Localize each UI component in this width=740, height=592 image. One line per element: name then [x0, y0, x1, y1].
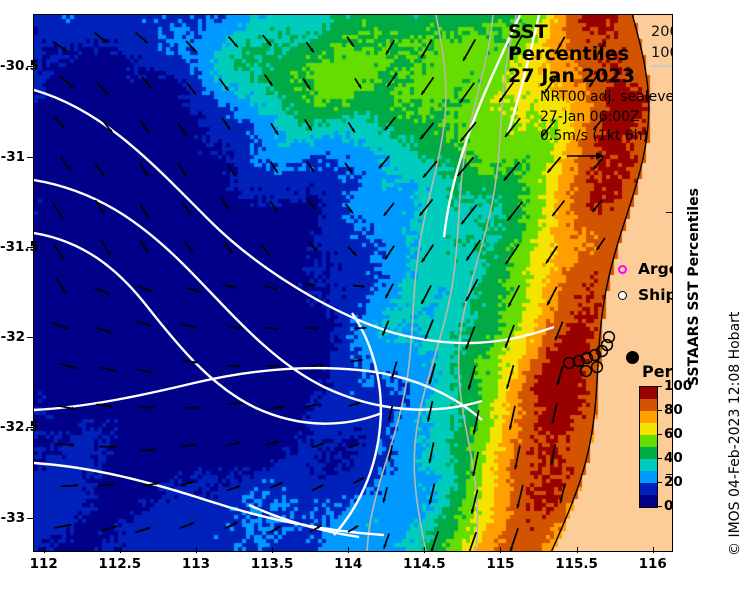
current-vector-arrow: [94, 33, 107, 43]
current-vector-arrow: [137, 322, 152, 327]
current-vector-arrow: [228, 326, 242, 329]
current-vector-arrow: [60, 364, 77, 369]
sst-map-plot: SST Percentiles 27 Jan 2023 200m 1000m N…: [33, 14, 673, 552]
current-vector-arrow: [505, 325, 514, 348]
current-vector-arrow: [181, 324, 196, 328]
colorbar-tick-label: 80: [664, 402, 683, 418]
current-vector-arrow: [225, 522, 238, 528]
x-tick-mark: [44, 547, 45, 553]
colorbar-tick-mark: [657, 458, 662, 459]
current-vector-arrow: [312, 443, 324, 448]
current-vector-arrow: [421, 77, 433, 94]
current-vector-arrow: [386, 40, 394, 54]
current-vector-arrow: [61, 484, 78, 487]
current-vector-arrow: [185, 406, 200, 409]
x-tick-label: 113: [182, 556, 210, 572]
current-vector-arrow: [421, 40, 431, 58]
depth-legend-line: [652, 65, 673, 67]
argo-marker-icon: [618, 265, 627, 274]
depth-contour-legend: 200m 1000m: [651, 22, 673, 67]
current-vector-arrow: [593, 200, 603, 212]
current-vector-arrow: [348, 247, 356, 256]
y-tick-label: -33: [0, 510, 25, 526]
legend-label-argo: Argo: [638, 260, 673, 278]
current-vector-arrow: [229, 402, 243, 406]
current-vector-arrow: [95, 327, 111, 333]
current-vector-arrow: [509, 406, 515, 430]
colorbar-band: [640, 495, 657, 507]
current-vector-arrow: [227, 486, 241, 491]
legend-item-ship: Ship: [618, 286, 673, 304]
current-vector-arrow: [422, 285, 432, 304]
colorbar-band: [640, 459, 657, 471]
current-vector-arrow: [101, 526, 117, 531]
contour-path: [34, 90, 554, 343]
current-vector-arrow: [552, 201, 564, 217]
y-tick-mark: [27, 66, 33, 67]
x-tick-label: 112: [30, 556, 58, 572]
colorbar-tick-label: 0: [664, 498, 673, 514]
current-vector-arrow: [546, 246, 557, 263]
current-vector-arrow: [142, 77, 153, 89]
current-vector-arrow: [220, 79, 229, 91]
current-vector-arrow: [510, 528, 518, 551]
current-vector-arrow: [385, 117, 396, 130]
current-vector-arrow: [349, 402, 361, 406]
current-vector-arrow: [102, 120, 112, 133]
current-vector-arrow: [265, 75, 273, 86]
current-vector-arrow: [552, 403, 557, 423]
current-vector-arrow: [187, 288, 201, 293]
y-tick-label: -31.5: [0, 239, 25, 255]
x-tick-label: 114: [334, 556, 362, 572]
current-vector-arrow: [382, 321, 388, 336]
current-vector-arrow: [222, 118, 230, 130]
depth-label-1000m: 1000m: [651, 43, 673, 64]
ship-marker: [564, 358, 575, 369]
x-tick-mark: [424, 547, 425, 553]
colorbar-tick-mark: [657, 386, 662, 387]
current-vector-arrow: [429, 484, 435, 505]
x-tick-label: 115.5: [555, 556, 598, 572]
y-tick-label: -31: [0, 149, 25, 165]
current-vector-arrow: [101, 241, 110, 255]
current-vector-arrow: [56, 443, 74, 446]
copyright-notice: © IMOS 04-Feb-2023 12:08 Hobart: [727, 312, 740, 556]
colorbar-axis-title: SSTAARS SST Percentiles: [686, 264, 702, 386]
current-vector-arrow: [139, 406, 155, 410]
current-vector-arrow: [305, 119, 312, 130]
current-vector-arrow: [140, 448, 156, 451]
current-vector-arrow: [460, 83, 474, 103]
current-vector-arrow: [431, 531, 438, 551]
current-vector-arrow: [224, 241, 232, 253]
x-tick-label: 114.5: [403, 556, 446, 572]
current-vector-arrow: [179, 481, 194, 486]
colorbar-band: [640, 483, 657, 495]
current-vector-arrow: [355, 78, 361, 88]
current-vector-arrow: [307, 161, 314, 172]
x-tick-mark: [272, 547, 273, 553]
current-vector-arrow: [53, 41, 67, 51]
current-vector-arrow: [348, 526, 358, 532]
current-vector-arrow: [555, 322, 563, 341]
current-vector-arrow: [468, 366, 475, 390]
current-vector-arrow: [347, 37, 354, 47]
colorbar-band: [640, 423, 657, 435]
sst-percentile-colorbar: [639, 386, 658, 508]
x-tick-mark: [196, 547, 197, 553]
current-vector-arrow: [181, 443, 196, 446]
colorbar-band: [640, 447, 657, 459]
current-vector-arrow: [227, 364, 241, 367]
current-vector-arrow: [387, 73, 397, 87]
current-vector-arrow: [137, 286, 152, 292]
current-vector-arrow: [186, 41, 196, 52]
frame-tick-upper: [666, 212, 673, 213]
contour-path: [367, 15, 446, 551]
current-vector-arrow: [504, 162, 520, 181]
colorbar-tick-label: 20: [664, 474, 683, 490]
current-vector-arrow: [264, 286, 277, 290]
current-vector-arrow: [308, 199, 316, 209]
current-vector-arrow: [96, 404, 113, 407]
y-tick-label: -30.5: [0, 58, 25, 74]
current-vector-arrow: [303, 79, 310, 90]
perth-city-marker: [626, 351, 639, 364]
current-vector-arrow: [270, 482, 283, 487]
ship-marker: [581, 366, 592, 377]
current-vector-arrow: [267, 364, 281, 367]
contour-path: [459, 15, 517, 551]
current-vector-arrow: [514, 446, 520, 470]
bathymetry-contours: [367, 15, 516, 551]
current-vector-arrow: [140, 120, 150, 133]
current-vector-arrow: [261, 245, 269, 256]
current-vector-arrow: [306, 42, 314, 52]
info-line-product: NRT00 adj. sealevel: [540, 88, 673, 108]
current-vector-arrow: [227, 441, 241, 445]
colorbar-band: [640, 471, 657, 483]
current-vector-arrow: [99, 445, 116, 448]
map-title-line1: SST Percentiles: [508, 21, 672, 65]
current-vector-arrow: [185, 241, 194, 254]
current-vector-arrow: [461, 205, 476, 224]
current-vector-arrow: [221, 198, 229, 210]
ship-marker-icon: [618, 291, 627, 300]
contour-path: [34, 463, 384, 535]
current-vector-arrow: [348, 122, 355, 132]
frame-tick-lower: [666, 474, 673, 475]
current-vector-arrow: [345, 163, 352, 173]
current-vector-arrow: [386, 284, 394, 299]
current-vector-arrow: [383, 487, 388, 502]
colorbar-tick-label: 40: [664, 450, 683, 466]
current-vector-arrow: [269, 527, 281, 533]
current-vector-arrow: [266, 441, 279, 445]
current-vector-arrow: [348, 443, 359, 448]
current-vector-arrow: [53, 203, 63, 218]
legend-item-argo: Argo: [618, 260, 673, 278]
current-vector-arrow: [271, 123, 278, 135]
current-vector-arrow: [422, 245, 434, 263]
current-vector-arrow: [353, 478, 364, 484]
current-vector-arrow: [228, 165, 236, 177]
current-vector-arrow: [56, 278, 65, 293]
colorbar-tick-mark: [657, 482, 662, 483]
current-vector-arrow: [508, 285, 519, 307]
map-title-line2: 27 Jan 2023: [508, 65, 672, 87]
current-vector-arrow: [346, 204, 353, 214]
colorbar-band: [640, 387, 657, 399]
current-vector-arrow: [271, 162, 278, 173]
current-vector-arrow: [60, 76, 73, 88]
colorbar-tick-label: 60: [664, 426, 683, 442]
x-tick-label: 112.5: [98, 556, 141, 572]
legend-label-ship: Ship: [638, 286, 673, 304]
ship-track-markers: [564, 332, 615, 377]
x-tick-label: 115: [486, 556, 514, 572]
current-vector-arrow: [54, 244, 63, 259]
y-tick-mark: [27, 518, 33, 519]
y-tick-label: -32.5: [0, 419, 25, 435]
current-vector-arrow: [506, 365, 513, 389]
x-tick-mark: [120, 547, 121, 553]
current-vector-arrow: [139, 240, 148, 253]
current-vector-arrow: [94, 288, 110, 294]
x-tick-mark: [577, 547, 578, 553]
current-vector-arrow: [140, 204, 149, 218]
current-vector-arrow: [309, 242, 317, 252]
current-vector-arrow: [550, 444, 555, 465]
x-tick-label: 116: [639, 556, 667, 572]
colorbar-band: [640, 411, 657, 423]
current-vector-arrow: [557, 366, 563, 385]
current-vector-arrow: [303, 283, 316, 286]
current-vector-arrow: [506, 244, 519, 264]
current-vector-arrow: [466, 326, 475, 349]
current-vector-arrow: [52, 323, 69, 330]
current-vector-arrow: [305, 327, 318, 330]
colorbar-tick-mark: [657, 410, 662, 411]
x-tick-mark: [500, 547, 501, 553]
current-vector-arrow: [429, 442, 434, 463]
current-vector-arrow: [305, 403, 318, 407]
current-vector-arrow: [463, 39, 475, 60]
current-vector-arrow: [517, 485, 523, 508]
current-vector-arrow: [425, 320, 433, 340]
info-line-vector-scale: 0.5m/s (1kt 6h): [540, 127, 673, 147]
current-vector-arrow: [311, 364, 324, 367]
current-vector-arrow: [100, 367, 116, 372]
current-vector-arrow: [98, 483, 115, 486]
current-vector-arrow: [222, 284, 236, 289]
info-line-timestamp: 27-Jan 06:00Z: [540, 108, 673, 128]
x-tick-mark: [653, 547, 654, 553]
current-vector-arrow: [178, 123, 187, 136]
y-tick-label: -32: [0, 329, 25, 345]
current-vector-arrow: [271, 405, 284, 408]
current-vector-arrow: [228, 36, 237, 47]
colorbar-band: [640, 399, 657, 411]
current-vector-arrow: [140, 163, 149, 176]
current-vector-arrow: [180, 523, 194, 529]
current-vector-arrow: [384, 203, 394, 216]
current-vector-arrow: [95, 163, 105, 177]
vector-scale-arrow-icon: [566, 149, 673, 169]
current-vector-arrow: [420, 123, 433, 139]
current-vector-arrow: [187, 83, 196, 95]
map-title-block: SST Percentiles 27 Jan 2023: [508, 21, 672, 87]
y-tick-mark: [27, 337, 33, 338]
contour-path: [414, 15, 493, 551]
current-vector-arrow: [178, 164, 186, 177]
data-source-info-block: NRT00 adj. sealevel 27-Jan 06:00Z 0.5m/s…: [540, 88, 673, 168]
current-vector-arrow: [353, 285, 365, 288]
current-vector-arrow: [137, 370, 153, 374]
current-vector-arrow: [385, 246, 394, 260]
y-tick-mark: [27, 157, 33, 158]
current-vector-arrow: [379, 156, 389, 168]
y-tick-mark: [27, 247, 33, 248]
depth-label-200m: 200m: [651, 22, 673, 43]
colorbar-band: [640, 435, 657, 447]
y-tick-mark: [27, 427, 33, 428]
current-vector-arrow: [53, 116, 65, 129]
current-vector-arrow: [508, 202, 523, 221]
current-vector-arrow: [97, 83, 109, 95]
current-vector-arrow: [183, 202, 191, 215]
colorbar-tick-mark: [657, 506, 662, 507]
current-vector-arrow: [596, 238, 605, 251]
current-vector-arrow: [351, 359, 363, 362]
current-vector-arrow: [135, 527, 150, 533]
current-vector-arrow: [312, 485, 324, 491]
x-tick-label: 113.5: [251, 556, 294, 572]
current-vector-arrow: [263, 35, 272, 46]
current-vector-arrow: [136, 32, 148, 43]
contour-path: [34, 368, 482, 420]
current-vector-arrow: [427, 401, 433, 422]
current-vector-arrow: [54, 524, 71, 528]
current-vector-arrow: [384, 534, 390, 549]
colorbar-tick-mark: [657, 434, 662, 435]
current-vector-arrow: [560, 484, 565, 503]
current-vector-arrow: [468, 532, 476, 551]
x-tick-mark: [348, 547, 349, 553]
current-vector-arrow: [270, 201, 278, 212]
contour-path: [34, 233, 382, 424]
current-vector-arrow: [265, 327, 279, 330]
current-vector-arrow: [60, 157, 71, 171]
current-vector-arrow: [547, 287, 557, 306]
